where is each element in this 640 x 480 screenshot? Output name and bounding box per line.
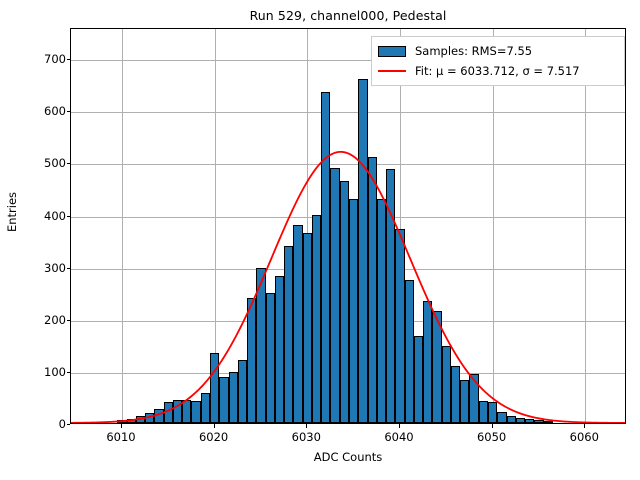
y-tick-label: 500 [44, 156, 66, 170]
histogram-bar [164, 402, 173, 423]
histogram-bar [247, 298, 256, 423]
histogram-bar [127, 419, 136, 423]
histogram-bar [525, 419, 534, 423]
histogram-bar [191, 401, 200, 423]
y-tick-label: 200 [44, 313, 66, 327]
histogram-bars [71, 29, 625, 423]
x-tick [121, 424, 122, 428]
histogram-bar [182, 400, 191, 423]
histogram-bar [395, 229, 404, 423]
histogram-bar [117, 420, 126, 423]
histogram-bar [136, 416, 145, 423]
y-tick [67, 216, 71, 217]
histogram-bar [229, 372, 238, 423]
x-tick-label: 6030 [292, 430, 321, 444]
histogram-bar [479, 401, 488, 423]
y-tick [67, 111, 71, 112]
x-tick-label: 6040 [384, 430, 413, 444]
histogram-bar [266, 293, 275, 423]
x-tick [214, 424, 215, 428]
y-tick-label: 600 [44, 104, 66, 118]
x-tick [584, 424, 585, 428]
x-axis-label: ADC Counts [70, 450, 626, 464]
legend-item-fit: Fit: μ = 6033.712, σ = 7.517 [378, 61, 618, 81]
histogram-bar [349, 199, 358, 423]
legend-item-samples: Samples: RMS=7.55 [378, 41, 618, 61]
histogram-bar [544, 421, 553, 423]
y-axis-label: Entries [5, 132, 19, 292]
y-tick [67, 320, 71, 321]
page-title: Run 529, channel000, Pedestal [70, 8, 626, 23]
y-tick-label: 400 [44, 209, 66, 223]
histogram-bar [210, 353, 219, 423]
histogram-bar [219, 377, 228, 423]
histogram-bar [312, 215, 321, 423]
y-tick-label: 700 [44, 52, 66, 66]
legend-label-samples: Samples: RMS=7.55 [415, 44, 532, 58]
histogram-bar [303, 233, 312, 423]
histogram-bar [173, 400, 182, 423]
x-tick-label: 6010 [106, 430, 135, 444]
histogram-bar [284, 246, 293, 423]
x-tick [492, 424, 493, 428]
legend: Samples: RMS=7.55 Fit: μ = 6033.712, σ =… [371, 36, 625, 86]
histogram-bar [497, 412, 506, 423]
y-tick-label: 300 [44, 261, 66, 275]
histogram-bar [368, 157, 377, 423]
histogram-bar [442, 346, 451, 423]
histogram-bar [451, 366, 460, 423]
x-tick-label: 6020 [199, 430, 228, 444]
histogram-bar [405, 280, 414, 423]
histogram-bar [432, 311, 441, 423]
histogram-bar [145, 413, 154, 423]
x-tick [306, 424, 307, 428]
histogram-bar [321, 92, 330, 423]
y-tick [67, 59, 71, 60]
histogram-bar [275, 276, 284, 423]
histogram-bar [488, 402, 497, 423]
legend-patch-swatch-icon [378, 46, 406, 57]
legend-line-swatch-icon [378, 66, 406, 77]
y-tick [67, 163, 71, 164]
histogram-bar [414, 336, 423, 423]
histogram-bar [460, 380, 469, 423]
histogram-bar [469, 374, 478, 424]
histogram-bar [377, 199, 386, 423]
histogram-bar [256, 268, 265, 423]
histogram-bar [238, 360, 247, 423]
histogram-bar [201, 393, 210, 423]
x-tick-label: 6050 [477, 430, 506, 444]
plot-area [70, 28, 626, 424]
x-tick-label: 6060 [570, 430, 599, 444]
y-tick [67, 372, 71, 373]
histogram-bar [507, 416, 516, 423]
histogram-bar [534, 420, 543, 423]
histogram-bar [293, 225, 302, 423]
x-tick [399, 424, 400, 428]
histogram-bar [423, 301, 432, 423]
y-tick-label: 100 [44, 365, 66, 379]
histogram-bar [358, 79, 367, 423]
y-tick [67, 268, 71, 269]
histogram-bar [386, 169, 395, 423]
histogram-bar [330, 168, 339, 423]
matplotlib-figure: Run 529, channel000, Pedestal 6010602060… [0, 0, 640, 480]
histogram-bar [154, 409, 163, 423]
histogram-bar [340, 181, 349, 423]
histogram-bar [516, 418, 525, 423]
y-tick-label: 0 [59, 417, 66, 431]
legend-label-fit: Fit: μ = 6033.712, σ = 7.517 [415, 64, 580, 78]
y-tick [67, 424, 71, 425]
